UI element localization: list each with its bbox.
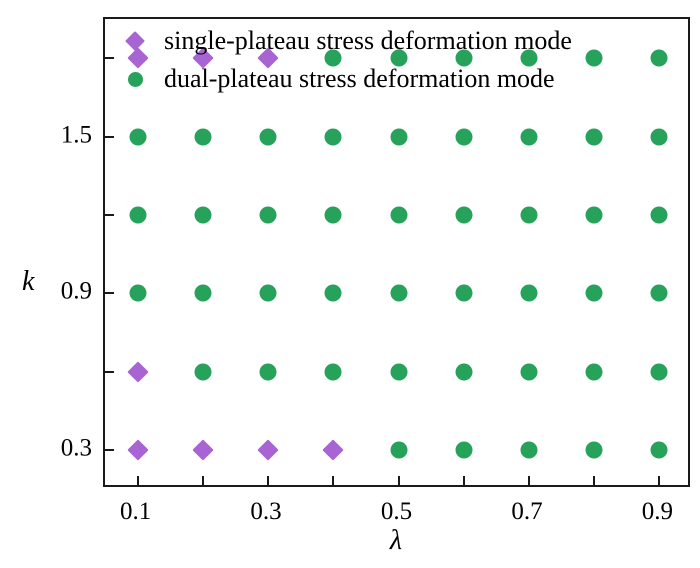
- data-point-circle: [260, 128, 277, 145]
- data-point-circle: [455, 363, 472, 380]
- legend-marker-diamond-icon: [122, 34, 148, 48]
- x-tick-label-0: 0.1: [120, 499, 151, 524]
- data-point-circle: [260, 363, 277, 380]
- y-tick-0: [105, 449, 114, 451]
- data-point-circle: [390, 285, 407, 302]
- legend-item-label: dual-plateau stress deformation mode: [164, 66, 555, 92]
- x-tick-4: [398, 476, 400, 485]
- data-point-circle: [260, 285, 277, 302]
- data-point-circle: [520, 128, 537, 145]
- y-tick-3: [105, 214, 114, 216]
- x-tick-0: [137, 476, 139, 485]
- data-point-circle: [194, 128, 211, 145]
- x-tick-7: [593, 476, 595, 485]
- y-tick-label-4: 1.5: [40, 122, 92, 147]
- y-tick-label-0: 0.3: [40, 435, 92, 460]
- data-point-circle: [651, 285, 668, 302]
- data-point-circle: [651, 363, 668, 380]
- data-point-circle: [129, 128, 146, 145]
- legend-marker-circle-icon: [122, 72, 148, 87]
- data-point-circle: [129, 206, 146, 223]
- y-tick-5: [105, 57, 114, 59]
- data-point-circle: [651, 441, 668, 458]
- data-point-circle: [325, 363, 342, 380]
- y-axis-title: k: [22, 268, 34, 296]
- x-tick-6: [528, 476, 530, 485]
- data-point-diamond: [257, 439, 278, 460]
- data-point-circle: [586, 206, 603, 223]
- data-point-circle: [390, 363, 407, 380]
- data-point-circle: [325, 206, 342, 223]
- x-tick-2: [267, 476, 269, 485]
- data-point-circle: [651, 206, 668, 223]
- legend-item-0[interactable]: single-plateau stress deformation mode: [122, 24, 572, 58]
- x-tick-label-6: 0.7: [511, 499, 542, 524]
- data-point-diamond: [323, 439, 344, 460]
- data-point-circle: [586, 441, 603, 458]
- data-point-circle: [260, 206, 277, 223]
- data-point-circle: [194, 206, 211, 223]
- legend-item-label: single-plateau stress deformation mode: [164, 28, 572, 54]
- legend: single-plateau stress deformation modedu…: [122, 24, 572, 96]
- data-point-circle: [520, 441, 537, 458]
- y-tick-4: [105, 136, 114, 138]
- y-tick-2: [105, 292, 114, 294]
- data-point-circle: [194, 285, 211, 302]
- data-point-diamond: [127, 361, 148, 382]
- data-point-circle: [455, 206, 472, 223]
- data-point-circle: [455, 441, 472, 458]
- data-point-circle: [651, 128, 668, 145]
- data-point-circle: [390, 441, 407, 458]
- x-tick-8: [658, 476, 660, 485]
- data-point-circle: [651, 50, 668, 67]
- data-point-circle: [586, 285, 603, 302]
- data-point-circle: [129, 285, 146, 302]
- data-point-circle: [455, 285, 472, 302]
- x-tick-label-4: 0.5: [381, 499, 412, 524]
- data-point-circle: [520, 363, 537, 380]
- scatter-chart-figure: 0.10.30.50.70.9 0.30.91.5 λ k single-pla…: [0, 0, 700, 568]
- y-tick-label-2: 0.9: [40, 279, 92, 304]
- data-point-diamond: [192, 439, 213, 460]
- x-tick-5: [463, 476, 465, 485]
- data-point-circle: [390, 128, 407, 145]
- data-point-circle: [325, 128, 342, 145]
- data-point-circle: [325, 285, 342, 302]
- data-point-circle: [194, 363, 211, 380]
- data-point-circle: [586, 128, 603, 145]
- x-tick-label-2: 0.3: [250, 499, 281, 524]
- x-tick-1: [202, 476, 204, 485]
- x-tick-3: [332, 476, 334, 485]
- data-point-circle: [520, 206, 537, 223]
- x-tick-label-8: 0.9: [642, 499, 673, 524]
- data-point-circle: [390, 206, 407, 223]
- legend-item-1[interactable]: dual-plateau stress deformation mode: [122, 62, 572, 96]
- data-point-circle: [455, 128, 472, 145]
- x-axis-title: λ: [390, 527, 402, 555]
- data-point-circle: [586, 50, 603, 67]
- y-tick-1: [105, 371, 114, 373]
- data-point-circle: [586, 363, 603, 380]
- data-point-diamond: [127, 439, 148, 460]
- data-point-circle: [520, 285, 537, 302]
